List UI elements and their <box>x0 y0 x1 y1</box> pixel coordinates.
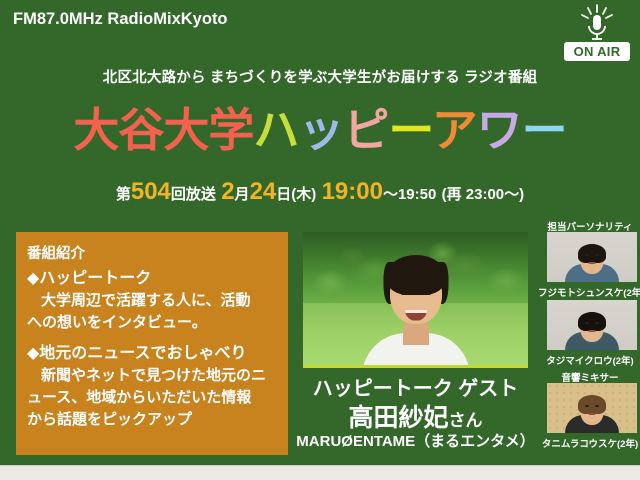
on-air-label: ON AIR <box>564 42 630 61</box>
title-segment-3: ピ <box>343 104 388 156</box>
broadcast-info: 第504回放送 2月24日(木) 19:00〜19:50 (再 23:00〜) <box>0 178 640 206</box>
panel-section-2-line-3: から話題をピックアップ <box>27 409 277 431</box>
personality-photo-2 <box>547 300 637 350</box>
personality-photo-1 <box>547 232 637 282</box>
guest-photo-bottom-edge <box>303 365 528 368</box>
panel-section-1-line-1: 大学周辺で活躍する人に、活動 <box>27 290 277 312</box>
title-segment-1: ハ <box>253 104 298 156</box>
guest-role: ハッピートーク ゲスト <box>288 372 543 401</box>
mixer-photo <box>547 383 637 433</box>
photo-mouth <box>589 413 596 415</box>
program-description-panel: 番組紹介 ◆ハッピートーク 大学周辺で活躍する人に、活動 への想いをインタビュー… <box>16 232 288 455</box>
guest-organization: MARUØENTAME（まるエンタメ） <box>288 430 543 451</box>
panel-title: 番組紹介 <box>27 242 277 263</box>
photo-eye-right <box>595 254 599 256</box>
panel-section-1-line-2: への想いをインタビュー。 <box>27 312 277 334</box>
panel-section-2-line-2: ュース、地域からいただいた情報 <box>27 387 277 409</box>
photo-mouth <box>589 262 596 264</box>
photo-eye-left <box>585 254 589 256</box>
photo-eye-right <box>595 405 599 407</box>
panel-section-2-line-1: 新聞やネットで見つけた地元のニ <box>27 365 277 387</box>
guest-photo-eye-left <box>401 292 409 295</box>
bottom-strip <box>0 465 640 480</box>
title-segment-2: ッ <box>298 104 343 156</box>
photo-mouth <box>589 330 596 332</box>
mixer-heading: 音響ミキサー <box>540 370 640 384</box>
broadcast-prefix: 第 <box>116 186 131 203</box>
broadcast-episode: 504 <box>131 178 171 205</box>
personality-name-1: フジモトシュンスケ(2年) <box>538 285 640 299</box>
broadcast-tilde: 〜 <box>383 186 398 203</box>
program-title: 大谷大学ハッピーアワー <box>0 104 640 156</box>
photo-eye-right <box>595 322 599 324</box>
broadcast-weekday: (木) <box>291 186 316 203</box>
microphone-icon <box>580 4 614 42</box>
title-segment-0: 大谷大学 <box>73 104 253 156</box>
broadcast-day: 24 <box>250 178 277 205</box>
personality-heading: 担当パーソナリティ <box>540 219 640 233</box>
photo-hair <box>578 244 606 263</box>
title-segment-7: ー <box>522 104 567 156</box>
station-name: FM87.0MHz RadioMixKyoto <box>13 10 228 29</box>
poster-canvas: FM87.0MHz RadioMixKyoto ON AIR 北区北大路から ま… <box>0 0 640 480</box>
broadcast-rerun: (再 23:00〜) <box>442 186 525 203</box>
guest-photo-neck <box>403 323 429 345</box>
photo-eye-left <box>585 405 589 407</box>
title-segment-5: ア <box>432 104 477 156</box>
broadcast-month: 2 <box>221 178 234 205</box>
broadcast-month-unit: 月 <box>235 186 250 203</box>
photo-eye-left <box>585 322 589 324</box>
guest-photo-eye-right <box>423 292 431 295</box>
on-air-badge: ON AIR <box>564 4 630 64</box>
broadcast-end-time: 19:50 <box>398 186 436 203</box>
guest-name-suffix: さん <box>449 411 483 430</box>
guest-photo <box>303 232 528 368</box>
panel-section-1-heading: ◆ハッピートーク <box>27 268 277 290</box>
broadcast-kai: 回放送 <box>171 186 216 203</box>
broadcast-day-unit: 日 <box>276 186 291 203</box>
program-subtitle: 北区北大路から まちづくりを学ぶ大学生がお届けする ラジオ番組 <box>0 66 640 87</box>
mixer-name: タニムラコウスケ(2年) <box>538 436 640 450</box>
guest-photo-hair <box>387 255 445 295</box>
guest-name-text: 高田紗妃 <box>348 404 448 432</box>
title-segment-4: ー <box>388 104 431 156</box>
guest-name: 高田紗妃さん <box>288 398 543 434</box>
photo-hair <box>578 312 606 331</box>
panel-section-2-heading: ◆地元のニュースでおしゃべり <box>27 343 277 365</box>
personality-name-2: タジマイクロウ(2年) <box>538 353 640 367</box>
panel-spacer <box>27 334 277 341</box>
photo-hair <box>578 395 606 414</box>
broadcast-start-time: 19:00 <box>322 178 383 205</box>
title-segment-6: ワ <box>477 104 522 156</box>
